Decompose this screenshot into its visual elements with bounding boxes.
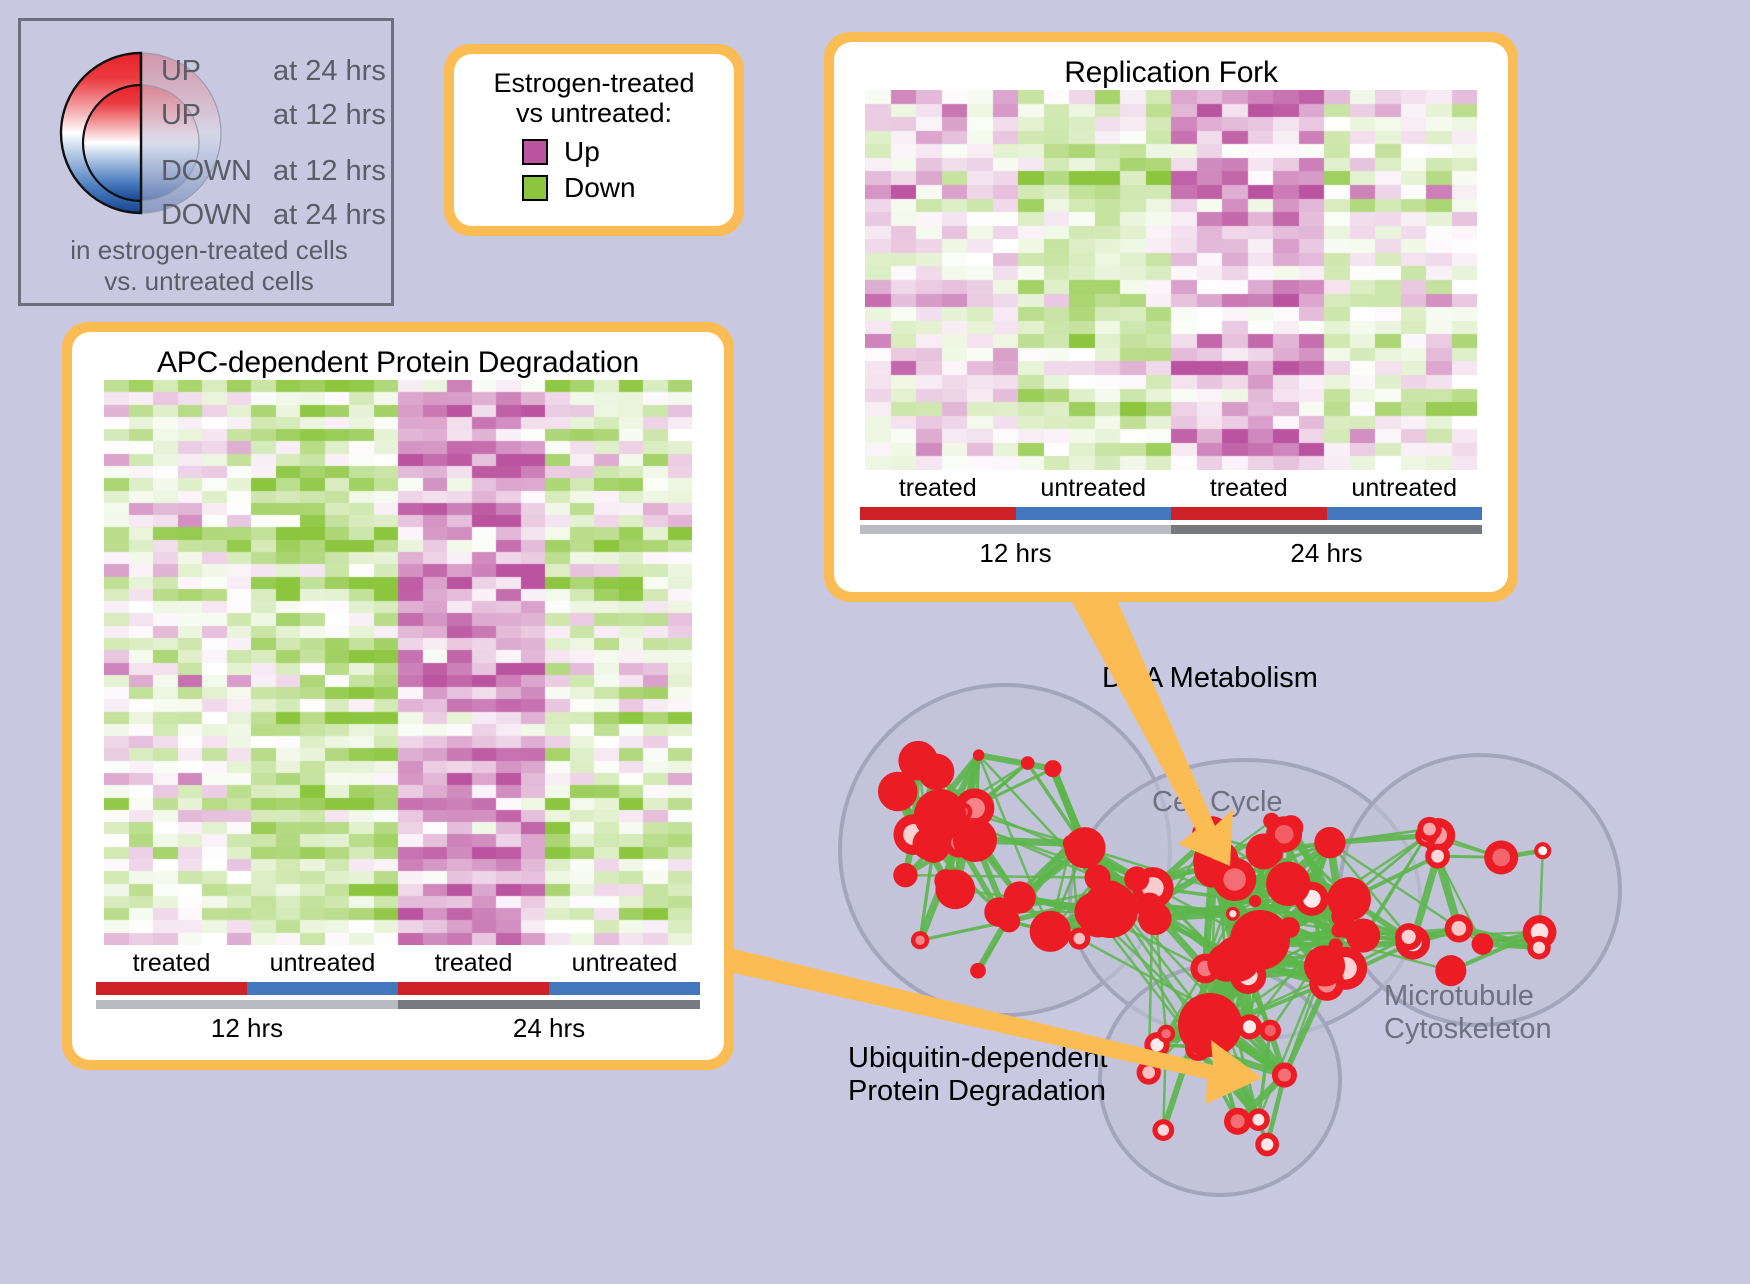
network-node [1178, 993, 1242, 1057]
replication-fork-inner: Replication Fork treateduntreatedtreated… [834, 42, 1508, 592]
replication-fork-panel: Replication Fork treateduntreatedtreated… [824, 32, 1518, 602]
network-node [1067, 829, 1102, 864]
network-label-dna-metabolism: DNA Metabolism [1102, 662, 1318, 695]
treatment-bar-segment [860, 507, 1016, 520]
legend-title-line1: Estrogen-treated [470, 68, 718, 98]
network-node [1136, 893, 1163, 920]
ck-direction: UP [161, 99, 273, 132]
time-label: 12 hrs [96, 1013, 398, 1044]
network-node [1044, 760, 1061, 777]
down-swatch-icon [522, 175, 548, 201]
group-label: untreated [1016, 474, 1172, 503]
spacer [161, 143, 391, 155]
legend-panel: Estrogen-treated vs untreated: Up Down [444, 44, 744, 236]
network-node [970, 963, 986, 979]
network-node [984, 897, 1014, 927]
figure-canvas: UP at 24 hrs UP at 12 hrs DOWN at 12 hrs… [0, 0, 1750, 1279]
ck-direction: DOWN [161, 155, 273, 188]
time-bar-segment [1171, 525, 1482, 534]
network-node-core [1278, 1069, 1291, 1082]
group-label: untreated [247, 949, 398, 978]
legend-item-up: Up [522, 134, 718, 170]
group-label: treated [96, 949, 247, 978]
treatment-bar-segment [1016, 507, 1172, 520]
network-node [898, 741, 938, 781]
network-node-core [1253, 1114, 1265, 1126]
color-key-box: UP at 24 hrs UP at 12 hrs DOWN at 12 hrs… [18, 18, 394, 306]
legend-item-label: Down [564, 172, 636, 204]
pathway-network: DNA Metabolism Cell Cycle MicrotubuleCyt… [790, 610, 1750, 1279]
apc-degradation-heatmap [104, 380, 692, 945]
group-label: untreated [549, 949, 700, 978]
network-node [1266, 862, 1310, 906]
color-key-row-down-12: DOWN at 12 hrs [161, 155, 391, 199]
color-key-rows: UP at 24 hrs UP at 12 hrs DOWN at 12 hrs… [161, 55, 391, 243]
network-label-cell-cycle: Cell Cycle [1152, 786, 1283, 819]
time-bar-segment [860, 525, 1171, 534]
network-node-core [1161, 1029, 1170, 1038]
time-label: 24 hrs [398, 1013, 700, 1044]
network-node [1265, 845, 1283, 863]
time-bar-segment [398, 1000, 700, 1009]
network-label-line: Cell Cycle [1152, 786, 1283, 819]
network-node-core [1261, 1138, 1273, 1150]
treatment-bar-segment [247, 982, 398, 995]
color-key-row-up-24: UP at 24 hrs [161, 55, 391, 99]
group-label: untreated [1327, 474, 1483, 503]
network-label-line: Cytoskeleton [1384, 1013, 1552, 1046]
replication-fork-title: Replication Fork [860, 56, 1482, 90]
network-label-line: Protein Degradation [848, 1075, 1108, 1108]
color-key-caption-line2: vs. untreated cells [21, 266, 397, 297]
network-node-core [1492, 849, 1510, 867]
network-node-core [1451, 921, 1466, 936]
group-label: treated [398, 949, 549, 978]
network-node [1082, 882, 1138, 938]
network-node [1314, 827, 1345, 858]
ck-time: at 24 hrs [273, 199, 386, 232]
network-node [893, 863, 917, 887]
time-bar-segment [96, 1000, 398, 1009]
treatment-bar-segment [398, 982, 549, 995]
network-node-core [1538, 846, 1547, 855]
ck-time: at 12 hrs [273, 99, 386, 132]
network-node-core [1265, 1025, 1276, 1036]
network-node-core [1402, 930, 1416, 944]
network-node [1472, 933, 1494, 955]
network-node [1021, 756, 1035, 770]
network-node-core [1158, 1124, 1169, 1135]
time-label: 12 hrs [860, 538, 1171, 569]
replication-time-bar [860, 525, 1482, 534]
network-node [1304, 945, 1345, 986]
network-node-core [1243, 1020, 1256, 1033]
replication-time-labels: 12 hrs24 hrs [860, 538, 1482, 569]
legend-item-label: Up [564, 136, 600, 168]
network-graph [790, 610, 1750, 1279]
network-node-core [1431, 850, 1444, 863]
network-label-line: Microtubule [1384, 980, 1552, 1013]
network-node [973, 749, 985, 761]
network-node-core [1423, 823, 1436, 836]
network-node [1230, 910, 1290, 970]
treatment-bar-segment [1327, 507, 1483, 520]
network-node-core [1223, 868, 1246, 891]
network-node [953, 818, 997, 862]
network-node [1124, 866, 1149, 891]
apc-group-labels: treateduntreatedtreateduntreated [96, 949, 700, 978]
network-node [1249, 895, 1261, 907]
network-node-core [1229, 910, 1236, 917]
network-node-core [1074, 933, 1086, 945]
network-node-core [1231, 1114, 1245, 1128]
treatment-bar-segment [1171, 507, 1327, 520]
network-node [1030, 911, 1071, 952]
replication-fork-heatmap [865, 90, 1477, 470]
network-node-core [1533, 942, 1545, 954]
network-label-ubiquitin: Ubiquitin-dependentProtein Degradation [848, 1042, 1108, 1109]
group-label: treated [860, 474, 1016, 503]
network-label-line: DNA Metabolism [1102, 662, 1318, 695]
apc-time-bar [96, 1000, 700, 1009]
apc-time-labels: 12 hrs24 hrs [96, 1013, 700, 1044]
up-swatch-icon [522, 139, 548, 165]
legend-panel-inner: Estrogen-treated vs untreated: Up Down [454, 54, 734, 226]
ck-time: at 24 hrs [273, 55, 386, 88]
ck-direction: DOWN [161, 199, 273, 232]
network-node-core [915, 935, 925, 945]
replication-group-labels: treateduntreatedtreateduntreated [860, 474, 1482, 503]
replication-treatment-bar [860, 507, 1482, 520]
legend-title-line2: vs untreated: [470, 98, 718, 128]
ck-time: at 12 hrs [273, 155, 386, 188]
network-node [934, 869, 957, 892]
network-label-line: Ubiquitin-dependent [848, 1042, 1108, 1075]
network-label-microtubule: MicrotubuleCytoskeleton [1384, 980, 1552, 1047]
color-key-caption-line1: in estrogen-treated cells [21, 235, 397, 266]
apc-degradation-title: APC-dependent Protein Degradation [96, 346, 700, 380]
network-node [1331, 906, 1352, 927]
group-label: treated [1171, 474, 1327, 503]
treatment-bar-segment [549, 982, 700, 995]
color-key-caption: in estrogen-treated cells vs. untreated … [21, 235, 397, 296]
legend-items: Up Down [470, 134, 718, 206]
network-node-core [1142, 1066, 1155, 1079]
legend-item-down: Down [522, 170, 718, 206]
ck-direction: UP [161, 55, 273, 88]
legend-title: Estrogen-treated vs untreated: [470, 68, 718, 128]
treatment-bar-segment [96, 982, 247, 995]
apc-degradation-inner: APC-dependent Protein Degradation treate… [72, 332, 724, 1060]
color-key-row-up-12: UP at 12 hrs [161, 99, 391, 143]
apc-treatment-bar [96, 982, 700, 995]
apc-degradation-panel: APC-dependent Protein Degradation treate… [62, 322, 734, 1070]
time-label: 24 hrs [1171, 538, 1482, 569]
